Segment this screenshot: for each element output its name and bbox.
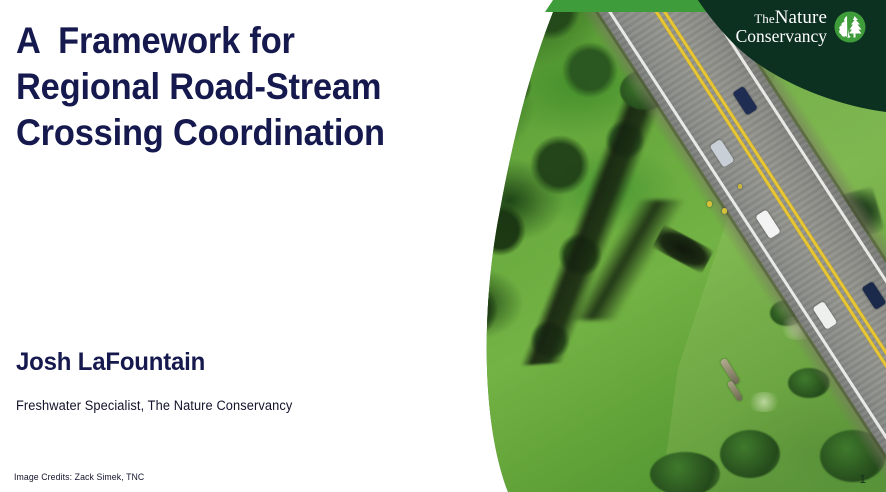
image-credit: Image Credits: Zack Simek, TNC <box>14 472 144 483</box>
tnc-logo-wordmark: TheNature Conservancy <box>736 8 827 46</box>
shrub <box>650 452 720 492</box>
page-title: A Framework for Regional Road-Stream Cro… <box>16 18 425 156</box>
presenter-name: Josh LaFountain <box>16 348 205 377</box>
grass-tuft <box>746 392 782 412</box>
tnc-logo-line-1: TheNature <box>736 8 827 27</box>
tnc-oak-leaf-pine-icon <box>834 11 866 43</box>
aerial-photo <box>470 0 886 492</box>
shrub <box>720 430 780 478</box>
roadside-marker <box>707 201 712 207</box>
roadside-marker <box>738 184 742 189</box>
tnc-logo[interactable]: TheNature Conservancy <box>736 8 866 46</box>
title-line-2: Regional Road-Stream <box>16 64 425 110</box>
aerial-photo-image <box>470 0 886 492</box>
presenter-role: Freshwater Specialist, The Nature Conser… <box>16 398 292 413</box>
title-line-1: A Framework for <box>16 18 425 64</box>
title-line-3: Crossing Coordination <box>16 110 425 156</box>
slide-number: 1 <box>859 472 866 486</box>
photo-panel: TheNature Conservancy 1 <box>470 0 886 492</box>
tnc-logo-the: The <box>754 11 775 26</box>
roadside-marker <box>722 208 727 214</box>
tnc-logo-nature: Nature <box>775 7 827 28</box>
tnc-logo-conservancy: Conservancy <box>736 28 827 46</box>
presentation-slide: TheNature Conservancy 1 A Framework for … <box>0 0 886 492</box>
